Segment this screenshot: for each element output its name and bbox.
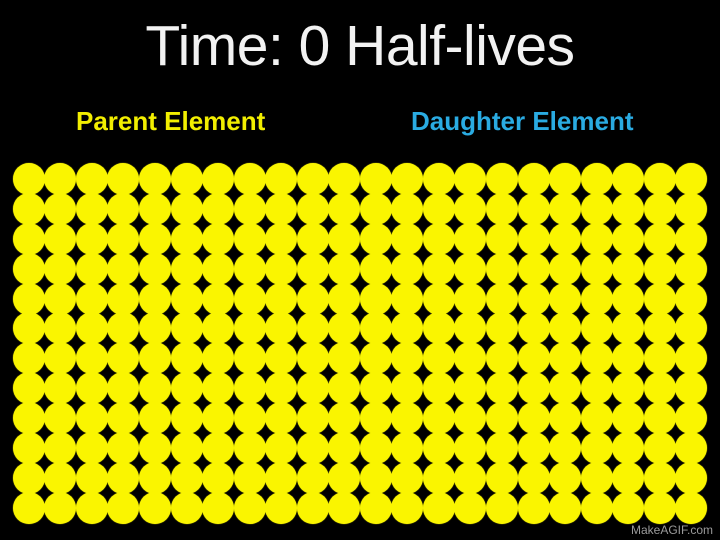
atom-parent [612, 432, 644, 464]
atom-parent [76, 193, 108, 225]
simulation-stage: Time: 0 Half-lives Parent Element Daught… [0, 0, 720, 540]
atom-cell [234, 284, 266, 314]
atom-cell [45, 224, 77, 254]
atom-cell [423, 343, 455, 373]
atom-parent [265, 223, 297, 255]
atom-cell [455, 194, 487, 224]
atom-cell [202, 254, 234, 284]
atom-parent [13, 253, 45, 285]
atom-parent [107, 462, 139, 494]
atom-cell [13, 343, 45, 373]
atom-parent [297, 283, 329, 315]
atom-cell [139, 493, 171, 523]
atom-parent [107, 342, 139, 374]
atom-cell [486, 433, 518, 463]
atom-cell [360, 194, 392, 224]
atom-cell [360, 403, 392, 433]
atom-parent [171, 432, 203, 464]
atom-parent [391, 342, 423, 374]
atom-parent [297, 312, 329, 344]
atom-cell [13, 403, 45, 433]
atom-cell [518, 403, 550, 433]
atom-cell [486, 164, 518, 194]
atom-parent [328, 462, 360, 494]
atom-cell [265, 463, 297, 493]
atom-cell [234, 463, 266, 493]
atom-cell [455, 284, 487, 314]
atom-parent [612, 312, 644, 344]
atom-cell [486, 403, 518, 433]
atom-cell [486, 493, 518, 523]
atom-parent [454, 492, 486, 524]
atom-parent [518, 283, 550, 315]
atom-cell [45, 194, 77, 224]
atom-cell [139, 224, 171, 254]
atom-parent [486, 283, 518, 315]
atom-parent [423, 253, 455, 285]
atom-cell [76, 433, 108, 463]
atom-parent [644, 342, 676, 374]
atom-parent [328, 223, 360, 255]
atom-parent [423, 462, 455, 494]
atom-parent [234, 372, 266, 404]
atom-parent [297, 342, 329, 374]
atom-parent [518, 163, 550, 195]
atom-parent [139, 253, 171, 285]
atom-parent [675, 193, 707, 225]
atom-parent [234, 462, 266, 494]
atom-cell [581, 254, 613, 284]
atom-cell [139, 164, 171, 194]
atom-parent [581, 432, 613, 464]
atom-cell [108, 493, 140, 523]
atom-cell [234, 194, 266, 224]
atom-parent [13, 462, 45, 494]
atom-cell [549, 433, 581, 463]
atom-grid [13, 164, 707, 524]
atom-parent [549, 492, 581, 524]
atom-parent [486, 342, 518, 374]
atom-cell [328, 463, 360, 493]
atom-parent [107, 372, 139, 404]
atom-parent [234, 492, 266, 524]
atom-parent [454, 372, 486, 404]
atom-cell [581, 463, 613, 493]
atom-parent [202, 432, 234, 464]
atom-cell [171, 403, 203, 433]
atom-parent [202, 342, 234, 374]
atom-cell [581, 373, 613, 403]
atom-parent [391, 223, 423, 255]
atom-cell [455, 254, 487, 284]
atom-cell [455, 313, 487, 343]
atom-cell [675, 224, 707, 254]
atom-parent [454, 312, 486, 344]
atom-cell [297, 224, 329, 254]
atom-parent [328, 492, 360, 524]
atom-cell [139, 194, 171, 224]
atom-cell [234, 493, 266, 523]
atom-cell [644, 313, 676, 343]
atom-parent [202, 253, 234, 285]
atom-cell [549, 224, 581, 254]
atom-parent [675, 312, 707, 344]
atom-parent [265, 193, 297, 225]
atom-cell [675, 284, 707, 314]
atom-cell [265, 373, 297, 403]
atom-parent [675, 372, 707, 404]
atom-cell [549, 463, 581, 493]
atom-parent [328, 342, 360, 374]
atom-parent [612, 372, 644, 404]
atom-parent [612, 402, 644, 434]
atom-parent [518, 462, 550, 494]
atom-cell [612, 493, 644, 523]
atom-cell [13, 493, 45, 523]
atom-cell [423, 224, 455, 254]
atom-cell [108, 224, 140, 254]
atom-parent [360, 342, 392, 374]
atom-cell [581, 284, 613, 314]
atom-parent [44, 462, 76, 494]
atom-cell [392, 313, 424, 343]
atom-cell [486, 284, 518, 314]
atom-parent [328, 283, 360, 315]
atom-cell [518, 433, 550, 463]
atom-cell [328, 254, 360, 284]
atom-parent [486, 432, 518, 464]
atom-cell [328, 194, 360, 224]
atom-parent [612, 492, 644, 524]
atom-cell [13, 433, 45, 463]
atom-cell [360, 164, 392, 194]
atom-cell [13, 284, 45, 314]
atom-cell [76, 343, 108, 373]
atom-parent [486, 193, 518, 225]
atom-parent [360, 402, 392, 434]
atom-parent [265, 372, 297, 404]
atom-parent [139, 432, 171, 464]
atom-parent [76, 283, 108, 315]
atom-cell [455, 164, 487, 194]
atom-cell [392, 463, 424, 493]
atom-parent [328, 253, 360, 285]
atom-cell [234, 313, 266, 343]
atom-cell [265, 284, 297, 314]
atom-cell [675, 313, 707, 343]
atom-parent [328, 312, 360, 344]
atom-parent [644, 402, 676, 434]
atom-parent [644, 432, 676, 464]
legend-item-daughter-element: Daughter Element [411, 104, 634, 138]
atom-cell [549, 493, 581, 523]
atom-parent [581, 163, 613, 195]
atom-cell [202, 164, 234, 194]
atom-parent [76, 432, 108, 464]
atom-parent [454, 283, 486, 315]
atom-cell [328, 284, 360, 314]
atom-cell [108, 284, 140, 314]
atom-parent [486, 253, 518, 285]
atom-parent [581, 492, 613, 524]
atom-cell [13, 313, 45, 343]
atom-parent [360, 312, 392, 344]
atom-cell [392, 224, 424, 254]
atom-cell [518, 493, 550, 523]
atom-cell [265, 313, 297, 343]
atom-cell [108, 373, 140, 403]
atom-parent [265, 492, 297, 524]
atom-parent [549, 342, 581, 374]
atom-cell [518, 313, 550, 343]
atom-cell [297, 493, 329, 523]
atom-cell [139, 254, 171, 284]
atom-parent [139, 372, 171, 404]
atom-cell [13, 194, 45, 224]
atom-cell [297, 254, 329, 284]
atom-cell [265, 224, 297, 254]
atom-cell [392, 493, 424, 523]
atom-cell [423, 254, 455, 284]
atom-parent [391, 462, 423, 494]
atom-parent [612, 283, 644, 315]
atom-parent [265, 312, 297, 344]
atom-parent [612, 462, 644, 494]
atom-parent [76, 312, 108, 344]
atom-cell [297, 403, 329, 433]
atom-cell [202, 343, 234, 373]
atom-parent [360, 253, 392, 285]
atom-cell [581, 403, 613, 433]
atom-cell [423, 164, 455, 194]
atom-parent [265, 342, 297, 374]
atom-parent [44, 283, 76, 315]
atom-parent [107, 223, 139, 255]
atom-cell [328, 164, 360, 194]
atom-cell [171, 194, 203, 224]
atom-parent [107, 193, 139, 225]
atom-cell [486, 343, 518, 373]
atom-parent [391, 372, 423, 404]
atom-parent [486, 462, 518, 494]
atom-parent [107, 163, 139, 195]
atom-parent [360, 283, 392, 315]
atom-cell [644, 403, 676, 433]
watermark-label: MakeAGIF.com [631, 523, 713, 537]
atom-cell [202, 373, 234, 403]
atom-parent [518, 432, 550, 464]
atom-cell [518, 343, 550, 373]
atom-parent [171, 372, 203, 404]
atom-cell [171, 224, 203, 254]
atom-parent [265, 462, 297, 494]
atom-cell [423, 194, 455, 224]
atom-parent [518, 193, 550, 225]
atom-parent [44, 253, 76, 285]
atom-parent [581, 223, 613, 255]
atom-parent [76, 253, 108, 285]
atom-cell [423, 284, 455, 314]
atom-parent [549, 283, 581, 315]
atom-cell [108, 164, 140, 194]
atom-cell [675, 164, 707, 194]
atom-cell [76, 373, 108, 403]
page-title: Time: 0 Half-lives [0, 10, 720, 82]
atom-cell [45, 164, 77, 194]
atom-parent [139, 223, 171, 255]
atom-cell [328, 343, 360, 373]
atom-parent [202, 283, 234, 315]
atom-parent [171, 342, 203, 374]
atom-cell [45, 313, 77, 343]
atom-parent [76, 492, 108, 524]
atom-parent [644, 193, 676, 225]
atom-cell [76, 254, 108, 284]
atom-cell [644, 343, 676, 373]
atom-parent [454, 253, 486, 285]
atom-cell [392, 403, 424, 433]
atom-parent [13, 223, 45, 255]
atom-parent [454, 462, 486, 494]
atom-parent [518, 402, 550, 434]
atom-cell [612, 224, 644, 254]
atom-cell [486, 224, 518, 254]
atom-cell [644, 433, 676, 463]
atom-parent [423, 312, 455, 344]
atom-parent [549, 163, 581, 195]
atom-cell [202, 224, 234, 254]
atom-cell [45, 343, 77, 373]
atom-cell [455, 373, 487, 403]
atom-parent [44, 223, 76, 255]
atom-cell [13, 224, 45, 254]
atom-parent [486, 402, 518, 434]
atom-parent [297, 372, 329, 404]
atom-parent [44, 372, 76, 404]
atom-parent [360, 372, 392, 404]
atom-parent [139, 342, 171, 374]
atom-parent [297, 402, 329, 434]
atom-parent [675, 402, 707, 434]
atom-parent [234, 163, 266, 195]
atom-cell [549, 313, 581, 343]
atom-parent [454, 402, 486, 434]
atom-cell [202, 433, 234, 463]
atom-cell [328, 433, 360, 463]
atom-cell [265, 403, 297, 433]
atom-cell [675, 254, 707, 284]
atom-cell [612, 463, 644, 493]
atom-parent [581, 402, 613, 434]
atom-parent [581, 372, 613, 404]
atom-parent [13, 312, 45, 344]
atom-parent [13, 342, 45, 374]
atom-cell [423, 373, 455, 403]
atom-parent [391, 163, 423, 195]
atom-cell [644, 284, 676, 314]
atom-parent [202, 312, 234, 344]
atom-cell [76, 224, 108, 254]
atom-parent [612, 342, 644, 374]
atom-parent [234, 223, 266, 255]
atom-parent [518, 253, 550, 285]
atom-cell [360, 284, 392, 314]
atom-cell [139, 373, 171, 403]
atom-cell [328, 403, 360, 433]
atom-cell [108, 433, 140, 463]
atom-cell [455, 224, 487, 254]
atom-parent [423, 223, 455, 255]
atom-parent [234, 402, 266, 434]
atom-parent [265, 402, 297, 434]
atom-cell [202, 194, 234, 224]
atom-parent [202, 163, 234, 195]
atom-parent [265, 432, 297, 464]
atom-parent [391, 193, 423, 225]
atom-cell [518, 373, 550, 403]
atom-parent [139, 163, 171, 195]
atom-parent [44, 432, 76, 464]
legend-item-parent-element: Parent Element [76, 104, 265, 138]
atom-cell [675, 463, 707, 493]
atom-parent [549, 432, 581, 464]
atom-cell [297, 343, 329, 373]
atom-cell [139, 403, 171, 433]
atom-parent [360, 223, 392, 255]
atom-parent [612, 223, 644, 255]
atom-parent [202, 193, 234, 225]
atom-cell [423, 433, 455, 463]
atom-cell [76, 493, 108, 523]
atom-parent [391, 283, 423, 315]
atom-parent [549, 372, 581, 404]
atom-parent [675, 342, 707, 374]
atom-parent [13, 193, 45, 225]
atom-cell [518, 254, 550, 284]
atom-parent [171, 193, 203, 225]
atom-cell [202, 284, 234, 314]
atom-cell [644, 194, 676, 224]
atom-cell [45, 463, 77, 493]
atom-cell [581, 493, 613, 523]
atom-parent [328, 193, 360, 225]
atom-cell [13, 373, 45, 403]
atom-cell [581, 164, 613, 194]
atom-cell [518, 164, 550, 194]
atom-cell [202, 463, 234, 493]
atom-cell [581, 313, 613, 343]
atom-cell [108, 194, 140, 224]
atom-parent [202, 462, 234, 494]
atom-parent [549, 223, 581, 255]
atom-cell [360, 433, 392, 463]
atom-parent [675, 492, 707, 524]
atom-cell [171, 493, 203, 523]
atom-parent [44, 312, 76, 344]
atom-cell [581, 433, 613, 463]
atom-parent [265, 163, 297, 195]
atom-cell [486, 313, 518, 343]
atom-cell [392, 373, 424, 403]
atom-parent [234, 342, 266, 374]
atom-cell [392, 254, 424, 284]
atom-cell [675, 343, 707, 373]
atom-cell [644, 224, 676, 254]
atom-parent [44, 193, 76, 225]
atom-parent [423, 432, 455, 464]
atom-parent [139, 462, 171, 494]
atom-parent [454, 163, 486, 195]
